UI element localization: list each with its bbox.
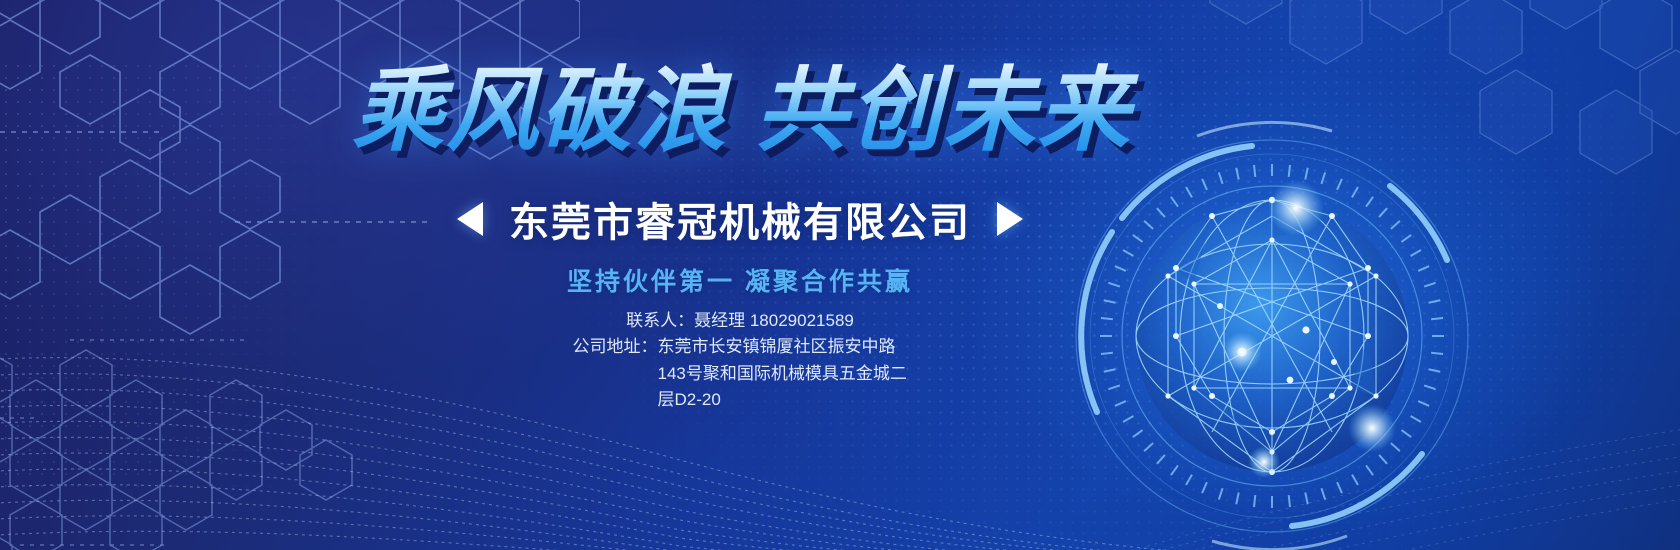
- contact-person-line: 联系人：聂经理 18029021589: [440, 308, 1040, 334]
- tagline: 坚持伙伴第一 凝聚合作共赢: [440, 262, 1040, 298]
- page-title: 乘风破浪 共创未来: [352, 62, 1182, 161]
- company-name-row: 东莞市睿冠机械有限公司: [440, 190, 1040, 248]
- company-name: 东莞市睿冠机械有限公司: [509, 190, 971, 248]
- triangle-left-icon: [457, 202, 483, 236]
- triangle-right-icon: [997, 202, 1023, 236]
- company-address-line: 公司地址： 东莞市长安镇锦厦社区振安中路143号聚和国际机械模具五金城二层D2-…: [440, 334, 1040, 413]
- contact-block: 联系人：聂经理 18029021589 公司地址： 东莞市长安镇锦厦社区振安中路…: [440, 308, 1040, 413]
- address-label: 公司地址：: [573, 334, 658, 413]
- promo-banner: 乘风破浪 共创未来 东莞市睿冠机械有限公司 坚持伙伴第一 凝聚合作共赢 联系人：…: [0, 0, 1680, 550]
- address-value: 东莞市长安镇锦厦社区振安中路143号聚和国际机械模具五金城二层D2-20: [658, 334, 908, 413]
- banner-text-content: 乘风破浪 共创未来 东莞市睿冠机械有限公司 坚持伙伴第一 凝聚合作共赢 联系人：…: [0, 0, 1120, 550]
